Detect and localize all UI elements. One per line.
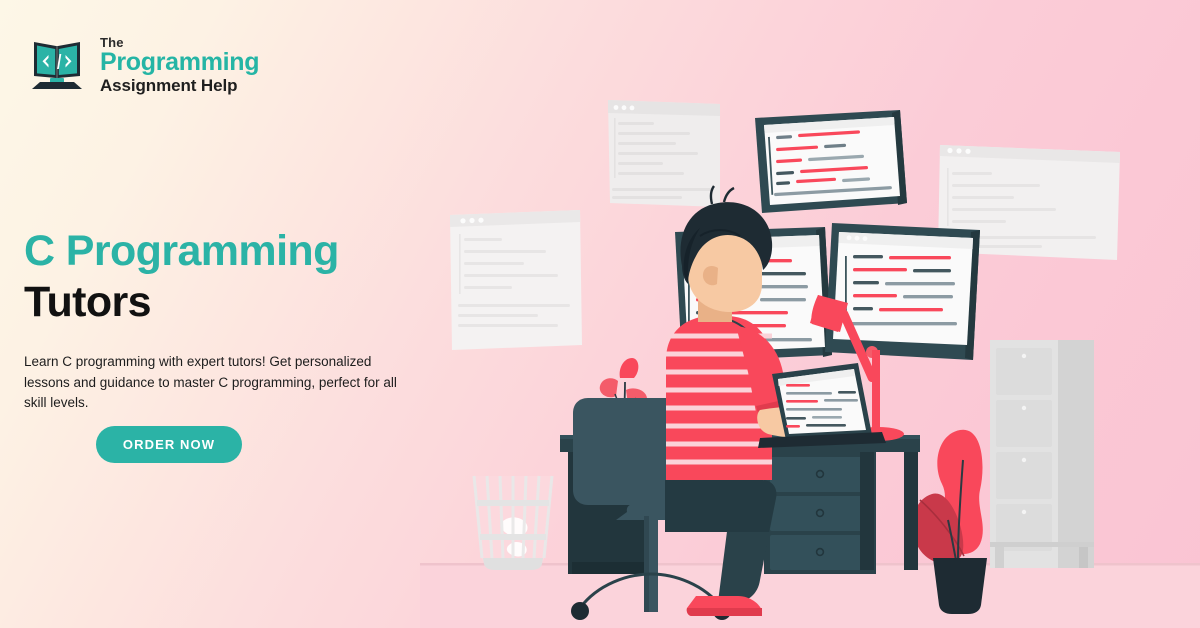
monitor-top-center <box>755 110 907 213</box>
logo-wordmark: The Programming Assignment Help <box>100 34 259 94</box>
order-now-button[interactable]: ORDER NOW <box>96 426 242 463</box>
hero-subcopy: Learn C programming with expert tutors! … <box>24 352 414 415</box>
monitor-mid-right <box>825 223 980 360</box>
page-title-line1: C Programming <box>24 228 444 274</box>
marketing-banner: The Programming Assignment Help C Progra… <box>0 0 1200 628</box>
hero-copy-block: C Programming Tutors Learn C programming… <box>24 228 444 414</box>
filing-cabinet <box>990 340 1094 568</box>
ghost-browser-window-mid-left <box>450 210 582 350</box>
logo-line-programming: Programming <box>100 50 259 75</box>
wire-wastebasket <box>474 476 552 570</box>
brand-logo[interactable]: The Programming Assignment Help <box>26 34 259 94</box>
hero-illustration <box>420 60 1200 628</box>
desk-drawers[interactable] <box>764 452 876 574</box>
laptop-code-logo-icon <box>26 36 88 92</box>
ghost-browser-window-top-left <box>608 100 720 207</box>
page-title-line2: Tutors <box>24 278 444 326</box>
logo-line-assignment: Assignment Help <box>100 77 259 94</box>
